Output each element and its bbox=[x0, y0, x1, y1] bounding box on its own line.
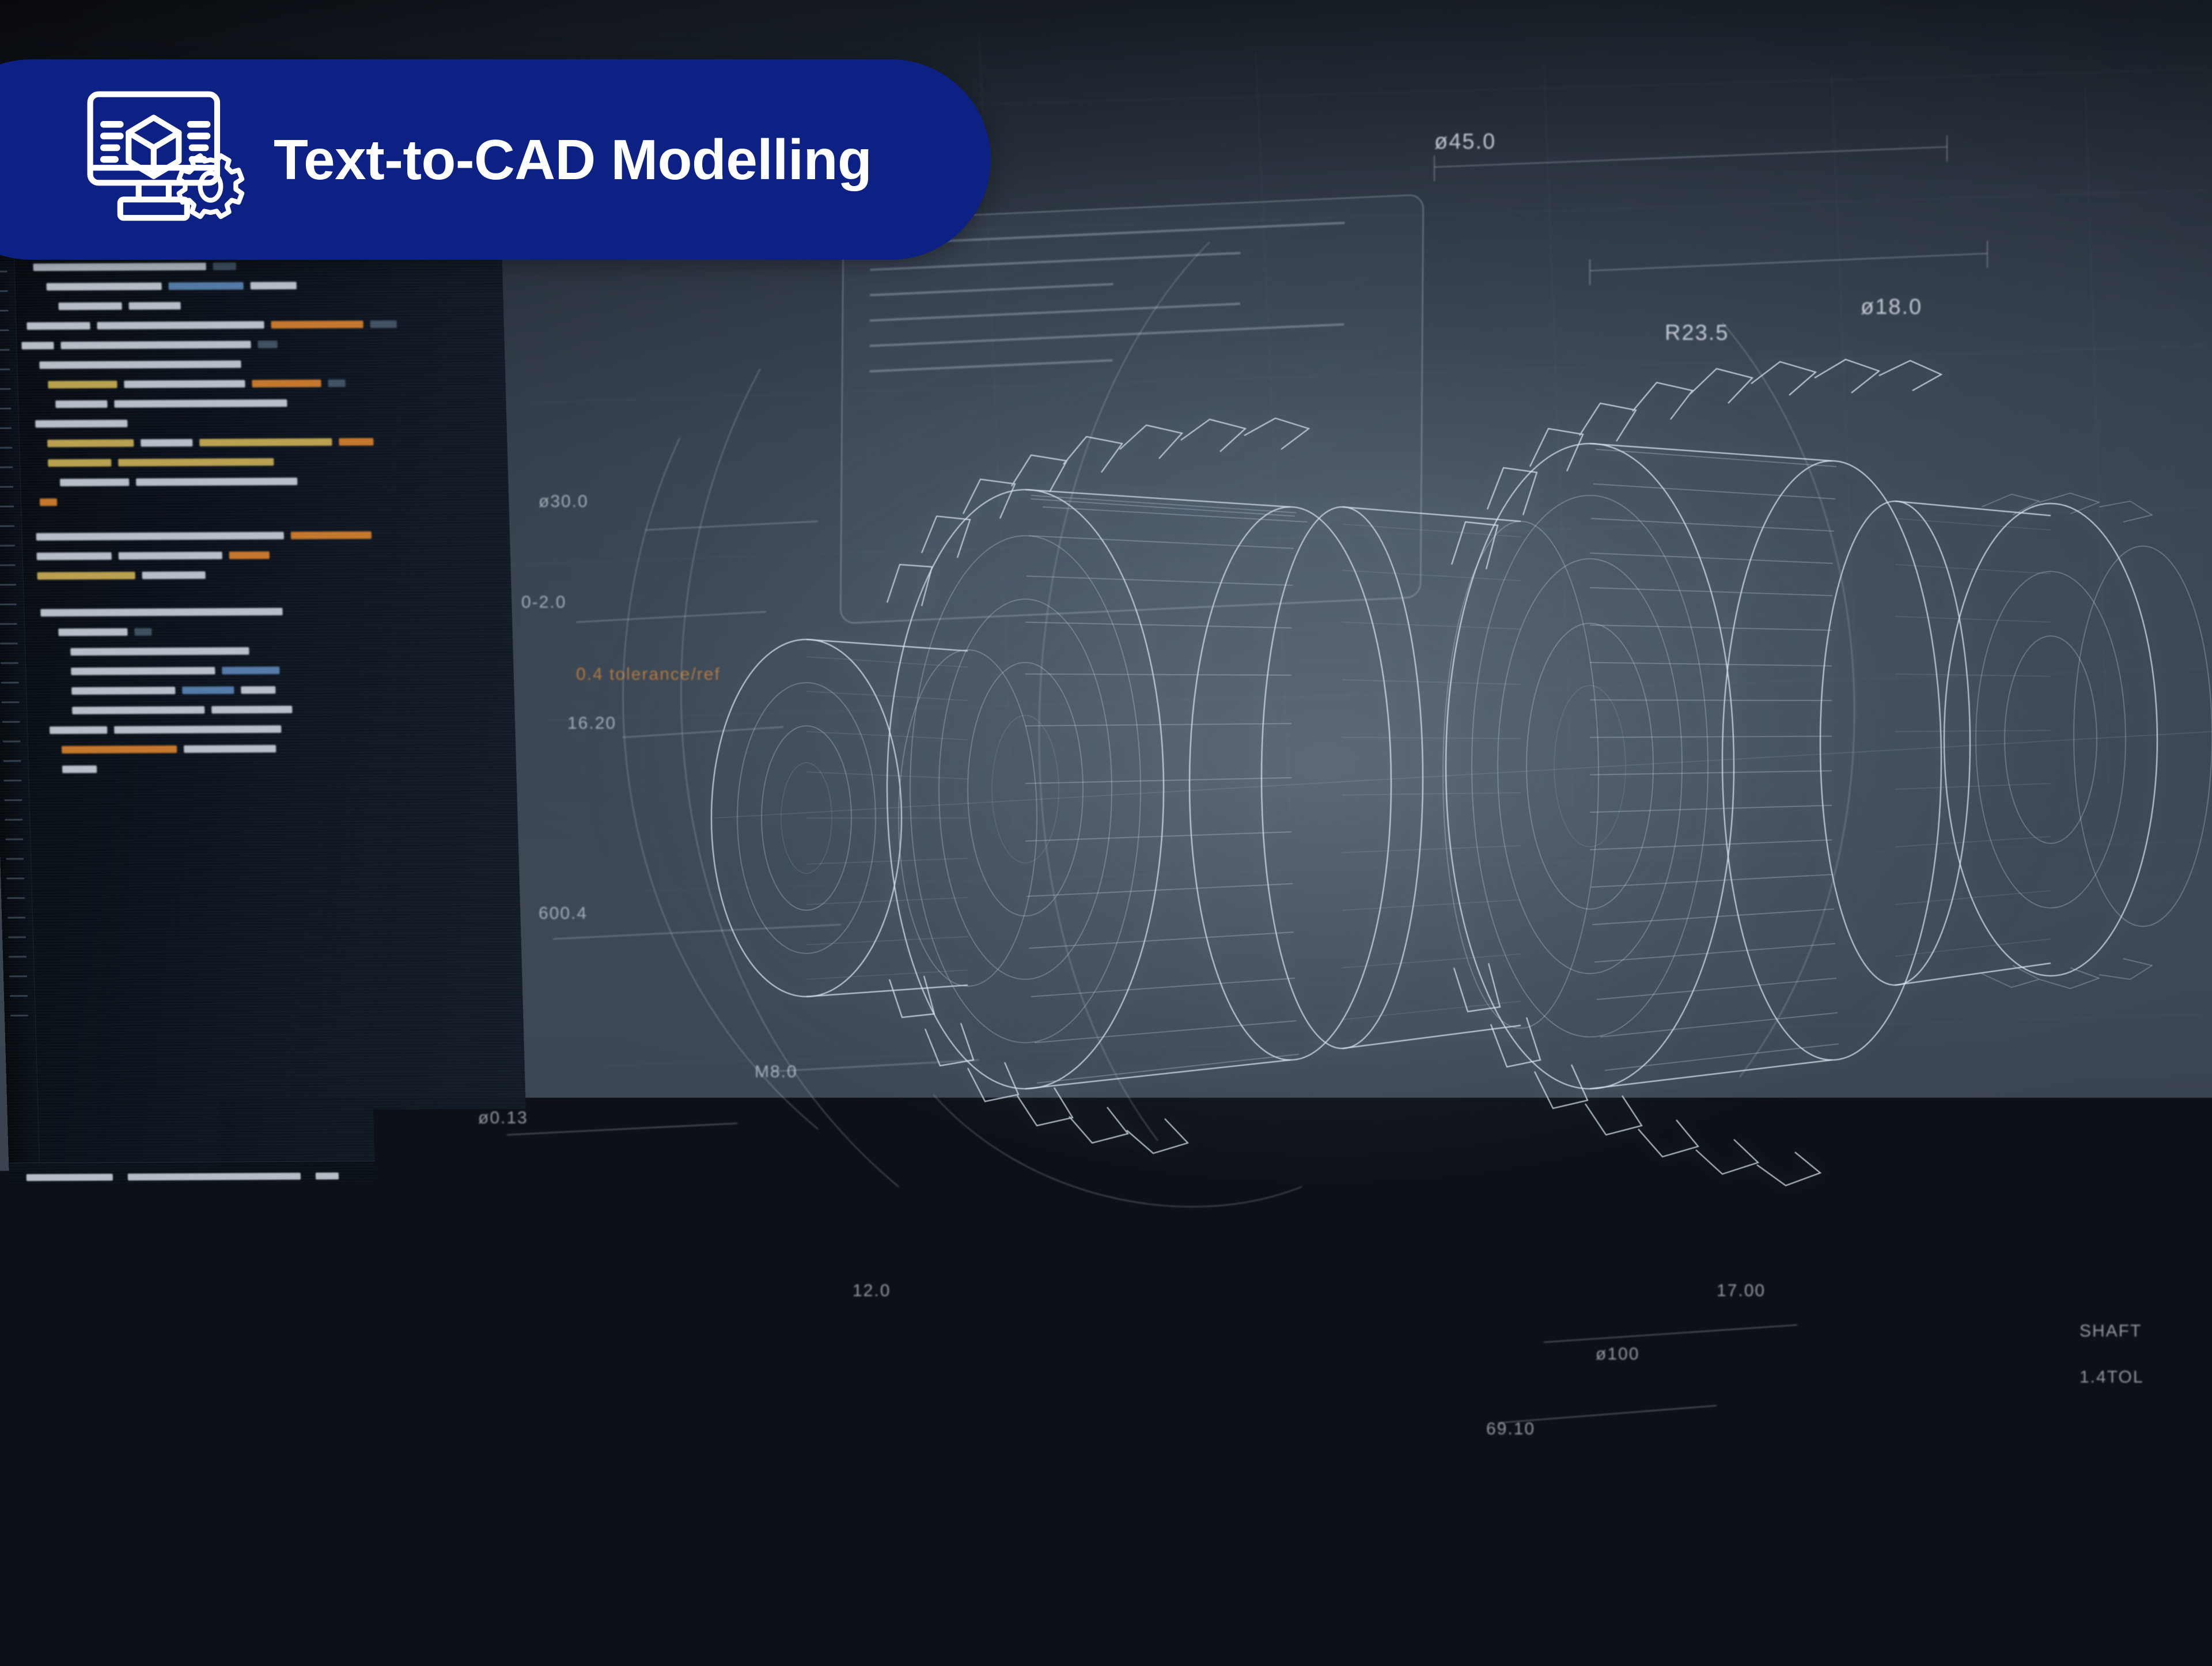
code-lines bbox=[19, 241, 511, 785]
monitor-gear-circuit-icon bbox=[104, 1422, 271, 1595]
editor-status-bar bbox=[9, 1160, 528, 1192]
feature-graphic-stage: ø45.0 R23.5 ø18.0 ø30.0 0-2.0 16.20 600.… bbox=[0, 0, 2212, 1666]
badge-label-rapid-satellite: Rapid Satellite Prototyping bbox=[1430, 1127, 2151, 1193]
desk-shadow bbox=[0, 1244, 2212, 1417]
badge-text-to-cad[interactable]: Text-to-CAD Modelling bbox=[0, 59, 991, 260]
badge-label-simulation-validated: Simulation-Validated Design bbox=[304, 1475, 1063, 1541]
desk-glare bbox=[1008, 1463, 2212, 1601]
code-editor-pane bbox=[0, 230, 529, 1247]
ghost-window-overlay bbox=[840, 194, 1424, 624]
badge-rapid-satellite[interactable]: Rapid Satellite Prototyping bbox=[1158, 1053, 2200, 1267]
badge-simulation-validated[interactable]: Simulation-Validated Design bbox=[0, 1401, 1100, 1615]
satellite-icon bbox=[1221, 1082, 1394, 1238]
monitor-cube-gear-icon bbox=[84, 90, 251, 229]
badge-label-text-to-cad: Text-to-CAD Modelling bbox=[274, 127, 872, 192]
